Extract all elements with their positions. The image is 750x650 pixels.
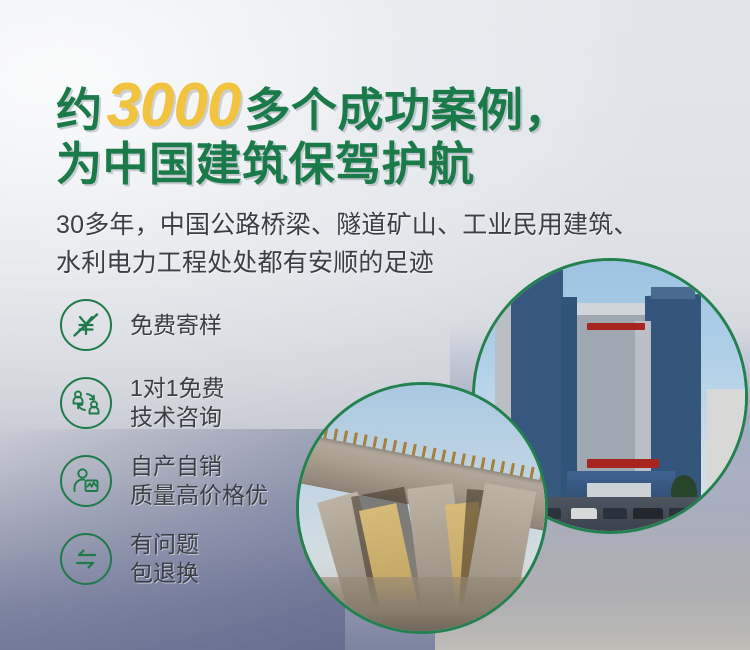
feature-label: 免费寄样 [130, 311, 222, 340]
headline-line-1: 约3000多个成功案例， [56, 78, 716, 138]
headline: 约3000多个成功案例， 为中国建筑保驾护航 [56, 78, 716, 192]
self-produce-sell-icon [60, 455, 112, 507]
feature-label: 1对1免费 技术咨询 [130, 374, 225, 432]
feature-item-free-sample: 免费寄样 [60, 296, 268, 354]
feature-label-line-1: 免费寄样 [130, 312, 222, 338]
feature-label-line-1: 自产自销 [130, 453, 222, 479]
feature-label: 有问题 包退换 [130, 530, 199, 588]
promo-banner: 约3000多个成功案例， 为中国建筑保驾护航 30多年，中国公路桥梁、隧道矿山、… [0, 0, 750, 650]
feature-item-self-produce: 自产自销 质量高价格优 [60, 452, 268, 510]
subheading-line-1: 30多年，中国公路桥梁、隧道矿山、工业民用建筑、 [56, 206, 736, 244]
headline-line-2: 为中国建筑保驾护航 [56, 136, 716, 192]
feature-label-line-2: 技术咨询 [130, 403, 225, 432]
subheading-line-2: 水利电力工程处处都有安顺的足迹 [56, 244, 736, 282]
headline-prefix: 约 [56, 84, 103, 136]
one-on-one-consult-icon [60, 377, 112, 429]
bridge-photo [296, 382, 548, 634]
feature-item-consultation: 1对1免费 技术咨询 [60, 374, 268, 432]
feature-label-line-2: 包退换 [130, 559, 199, 588]
feature-list: 免费寄样 1对1免 [60, 296, 268, 608]
feature-item-return-exchange: 有问题 包退换 [60, 530, 268, 588]
feature-label: 自产自销 质量高价格优 [130, 452, 268, 510]
subheading: 30多年，中国公路桥梁、隧道矿山、工业民用建筑、 水利电力工程处处都有安顺的足迹 [56, 206, 736, 282]
headline-suffix: 多个成功案例， [244, 84, 570, 136]
feature-label-line-2: 质量高价格优 [130, 481, 268, 510]
feature-label-line-1: 1对1免费 [130, 375, 225, 401]
headline-highlight-number: 3000 [103, 71, 245, 140]
free-sample-icon [60, 299, 112, 351]
feature-label-line-1: 有问题 [130, 531, 199, 557]
return-exchange-icon [60, 533, 112, 585]
